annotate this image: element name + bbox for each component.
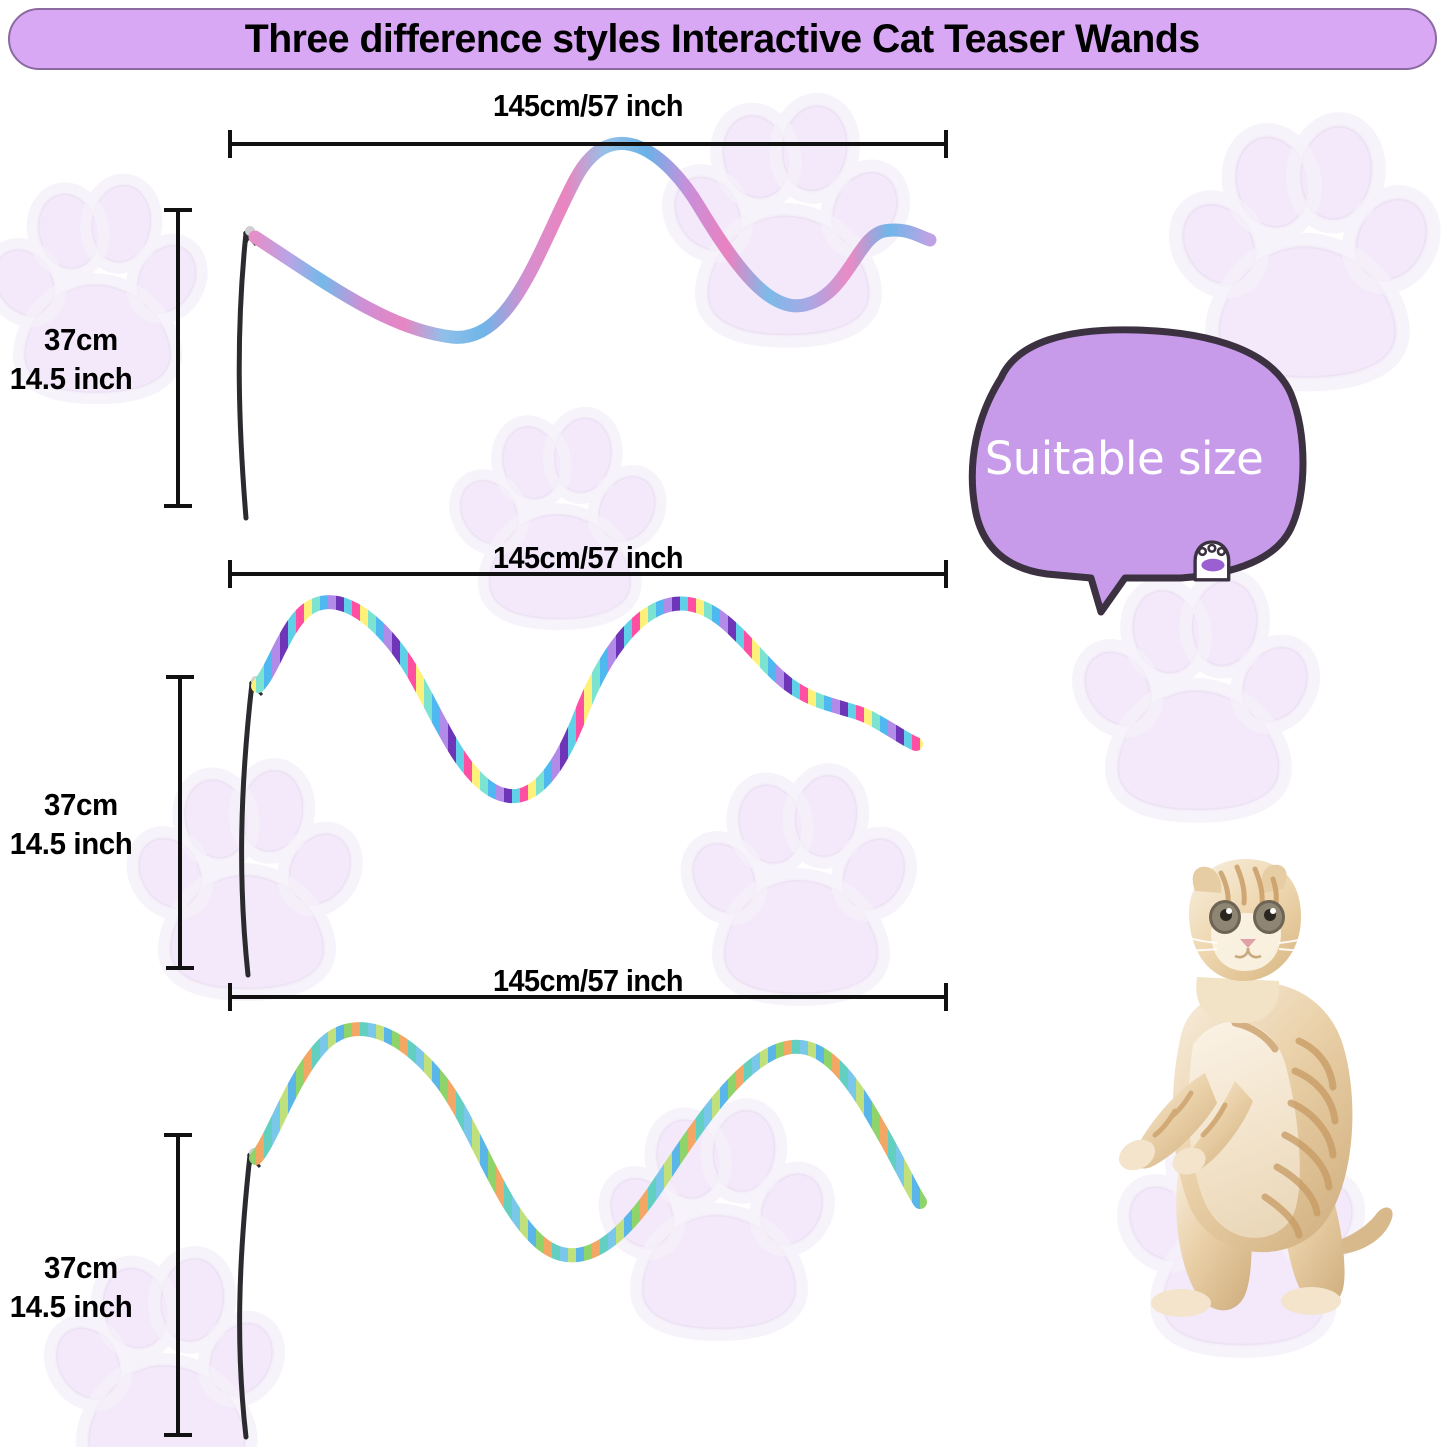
wand-3 (240, 1029, 920, 1437)
wand-2 (242, 602, 916, 975)
cat-illustration (1085, 855, 1415, 1345)
wand-1-handle-label-inch: 14.5 inch (10, 359, 133, 398)
wand-1-length-label: 145cm/57 inch (253, 88, 923, 124)
page-title: Three difference styles Interactive Cat … (245, 17, 1200, 62)
wand-3-handle-label-cm: 37cm (44, 1248, 132, 1287)
wand-1-handle-label: 37cm 14.5 inch (44, 320, 132, 398)
wand-1-length-cap-left (228, 130, 232, 158)
wand-1-handle-label-cm: 37cm (44, 320, 132, 359)
wand-3-rod (240, 1155, 250, 1437)
wand-2-handle-line (178, 675, 182, 970)
wand-1-handle-cap-top (164, 208, 192, 212)
wand-1-rod (239, 233, 246, 518)
wand-2-length-cap-left (228, 560, 232, 588)
wand-3-length-cap-left (228, 983, 232, 1011)
wand-3-length-label: 145cm/57 inch (253, 963, 923, 999)
wand-1-length-line (228, 142, 948, 146)
wand-3-ribbon (256, 1029, 920, 1255)
wand-2-handle-cap-bottom (166, 966, 194, 970)
callout-text: Suitable size (955, 432, 1293, 485)
cat-photo (1085, 855, 1415, 1345)
wand-1-ribbon (255, 143, 930, 337)
cat-paw-doodle-icon (1195, 542, 1229, 580)
wand-3-length-cap-right (944, 983, 948, 1011)
suitable-size-callout: Suitable size (955, 312, 1315, 622)
wand-2-rod (242, 683, 252, 975)
wand-1-handle-cap-bottom (164, 504, 192, 508)
wand-3-handle-label-inch: 14.5 inch (10, 1287, 133, 1326)
wand-2-length-label: 145cm/57 inch (253, 540, 923, 576)
wand-2-handle-label: 37cm 14.5 inch (44, 785, 132, 863)
header-banner: Three difference styles Interactive Cat … (8, 8, 1437, 70)
wand-2-ribbon (258, 602, 916, 796)
wand-3-handle-label: 37cm 14.5 inch (44, 1248, 132, 1326)
wand-2-length-line (228, 572, 948, 576)
wand-3-handle-line (176, 1133, 180, 1437)
wand-2-handle-label-cm: 37cm (44, 785, 132, 824)
wand-2-handle-label-inch: 14.5 inch (10, 824, 133, 863)
wand-3-length-line (228, 995, 948, 999)
wand-2-handle-cap-top (166, 675, 194, 679)
wand-2-length-cap-right (944, 560, 948, 588)
wand-3-handle-cap-top (164, 1133, 192, 1137)
wand-1-length-cap-right (944, 130, 948, 158)
wand-1-handle-line (176, 208, 180, 508)
wand-3-handle-cap-bottom (164, 1433, 192, 1437)
wand-1 (239, 143, 930, 518)
